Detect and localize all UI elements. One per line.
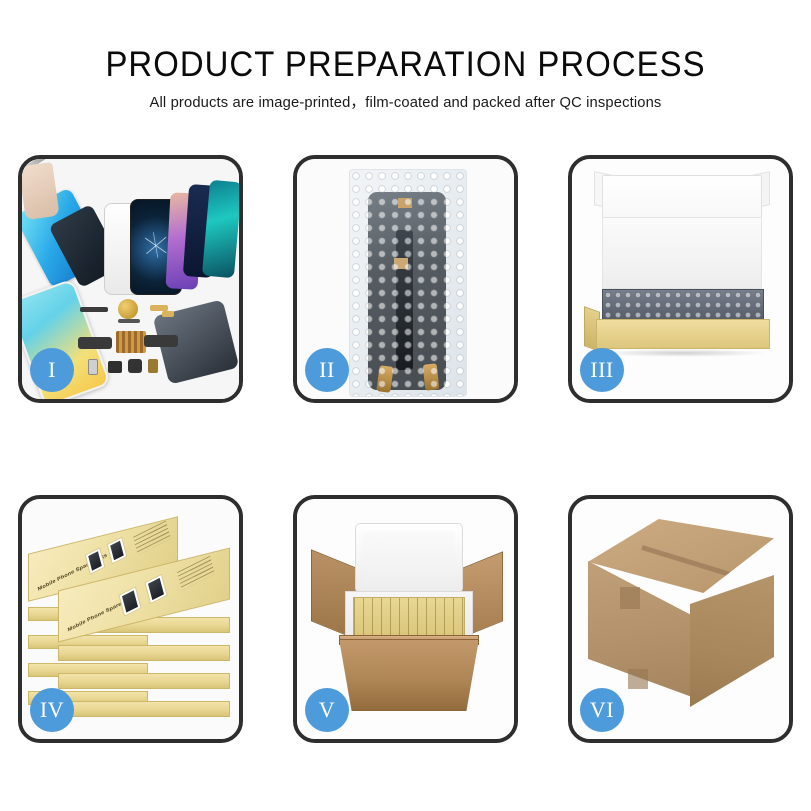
page-subtitle: All products are image-printed，film-coat… xyxy=(12,93,799,113)
step-panel-3: III xyxy=(568,155,793,403)
bubble-wrapped-contents xyxy=(602,289,764,321)
box-shadow xyxy=(598,349,768,357)
box-artwork-screen xyxy=(144,574,167,605)
product-preparation-page: PRODUCT PREPARATION PROCESS All products… xyxy=(0,0,811,811)
step-badge-3: III xyxy=(580,348,624,392)
step-panel-1: I xyxy=(18,155,243,403)
retail-box xyxy=(58,701,230,717)
box-artwork-screen xyxy=(107,537,128,565)
connector-icon xyxy=(423,363,440,390)
hand-icon xyxy=(18,162,59,220)
carton-body xyxy=(339,639,479,711)
bubble-wrap-bag xyxy=(349,169,467,397)
foam-box-lid xyxy=(355,523,463,593)
foam-sheet xyxy=(602,217,762,289)
carton-tape-patch xyxy=(628,669,648,689)
connector-part-icon xyxy=(162,311,174,317)
speaker-part-icon xyxy=(80,307,108,312)
box-artwork-screen xyxy=(118,586,141,617)
step-panel-2: II xyxy=(293,155,518,403)
small-part-icon xyxy=(108,361,122,373)
camera-module-icon xyxy=(128,359,142,373)
small-part-icon xyxy=(118,319,140,323)
tape-piece-icon xyxy=(398,198,412,208)
gold-component-icon xyxy=(118,299,138,319)
small-part-icon xyxy=(148,359,158,373)
carton-seam xyxy=(641,545,765,587)
step-badge-1: I xyxy=(30,348,74,392)
box-spec-lines xyxy=(177,556,215,591)
tape-piece-icon xyxy=(394,258,408,269)
step-panel-5: V xyxy=(293,495,518,743)
carton-right-face xyxy=(690,575,774,707)
step-badge-4: IV xyxy=(30,688,74,732)
carton-tape-patch xyxy=(620,587,640,609)
flex-cable-icon xyxy=(78,337,112,349)
wrapped-flex-strip xyxy=(396,230,413,370)
step-panel-6: VI xyxy=(568,495,793,743)
box-artwork-screen xyxy=(85,547,106,575)
step-badge-2: II xyxy=(305,348,349,392)
header: PRODUCT PREPARATION PROCESS All products… xyxy=(0,44,811,113)
step-badge-5: V xyxy=(305,688,349,732)
step-panel-4: Mobile Phone Spare Parts Mobile Phone Sp… xyxy=(18,495,243,743)
small-part-icon xyxy=(88,359,98,375)
step-badge-6: VI xyxy=(580,688,624,732)
retail-box xyxy=(58,645,230,661)
flex-cable-icon xyxy=(144,335,178,347)
page-title: PRODUCT PREPARATION PROCESS xyxy=(24,44,786,86)
box-spec-lines xyxy=(133,520,171,555)
retail-box xyxy=(58,673,230,689)
teal-phone-icon xyxy=(202,180,242,278)
process-step-grid: I II xyxy=(18,155,793,743)
chip-grid-icon xyxy=(116,331,146,353)
box-front-panel xyxy=(596,319,770,349)
